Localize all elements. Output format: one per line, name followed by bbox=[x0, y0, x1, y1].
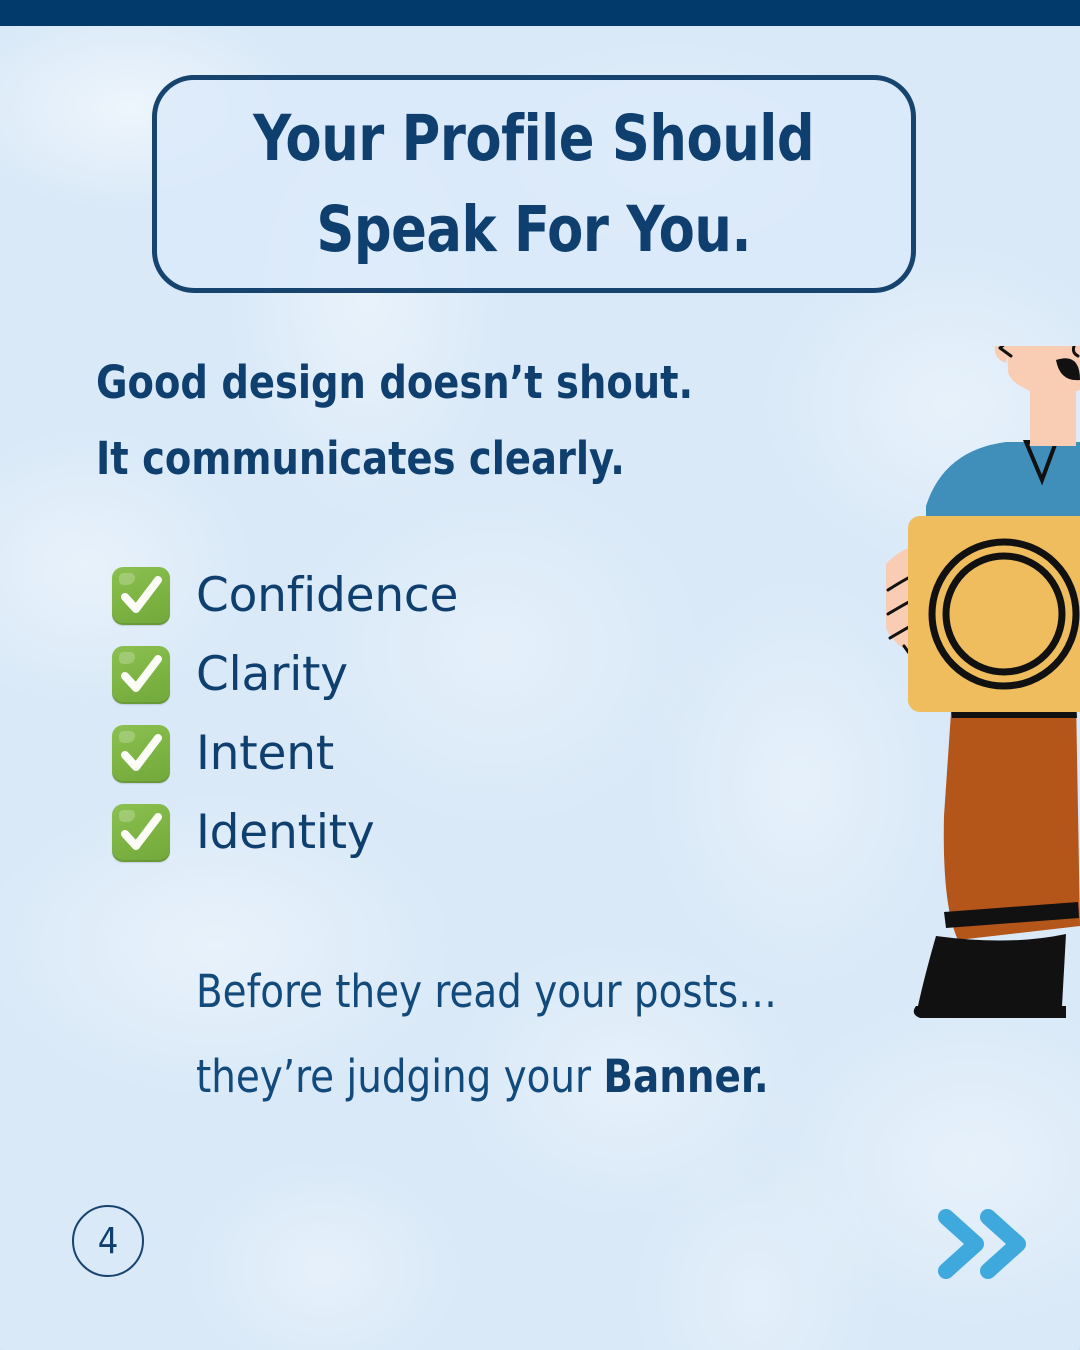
checklist-item-intent: Intent bbox=[112, 714, 458, 793]
closing-line-1: Before they read your posts… bbox=[196, 950, 887, 1035]
sign-board bbox=[908, 516, 1080, 712]
closing-line-2: they’re judging your Banner. bbox=[196, 1035, 887, 1120]
checklist-item-confidence: Confidence bbox=[112, 556, 458, 635]
check-mark-icon bbox=[112, 804, 170, 862]
closing-line-2-prefix: they’re judging your bbox=[196, 1050, 603, 1103]
top-navy-bar bbox=[0, 0, 1080, 26]
lead-line-1: Good design doesn’t shout. bbox=[96, 345, 761, 421]
page-number-label: 4 bbox=[98, 1221, 119, 1262]
lead-paragraph: Good design doesn’t shout. It communicat… bbox=[96, 345, 796, 496]
checklist-label: Identity bbox=[196, 809, 375, 856]
check-mark-icon bbox=[112, 567, 170, 625]
checklist-item-clarity: Clarity bbox=[112, 635, 458, 714]
title-line-2: Speak For You. bbox=[317, 184, 752, 275]
head-shape bbox=[996, 346, 1080, 396]
check-mark-icon bbox=[112, 646, 170, 704]
slide-canvas: Your Profile Should Speak For You. Good … bbox=[0, 0, 1080, 1350]
page-number-badge: 4 bbox=[72, 1205, 144, 1277]
title-line-1: Your Profile Should bbox=[253, 93, 814, 184]
closing-paragraph: Before they read your posts… they’re jud… bbox=[196, 950, 916, 1119]
checklist: Confidence Clarity Intent Identity bbox=[112, 556, 458, 872]
double-chevron-right-icon[interactable] bbox=[936, 1205, 1036, 1283]
lead-line-2: It communicates clearly. bbox=[96, 421, 761, 497]
title-card: Your Profile Should Speak For You. bbox=[152, 75, 916, 293]
checklist-label: Clarity bbox=[196, 651, 348, 698]
pants-shape bbox=[944, 698, 1080, 940]
checklist-item-identity: Identity bbox=[112, 793, 458, 872]
closing-emphasis-banner: Banner. bbox=[603, 1050, 768, 1103]
checklist-label: Confidence bbox=[196, 572, 458, 619]
check-mark-icon bbox=[112, 725, 170, 783]
shoe-shape bbox=[914, 934, 1066, 1018]
checklist-label: Intent bbox=[196, 730, 334, 777]
